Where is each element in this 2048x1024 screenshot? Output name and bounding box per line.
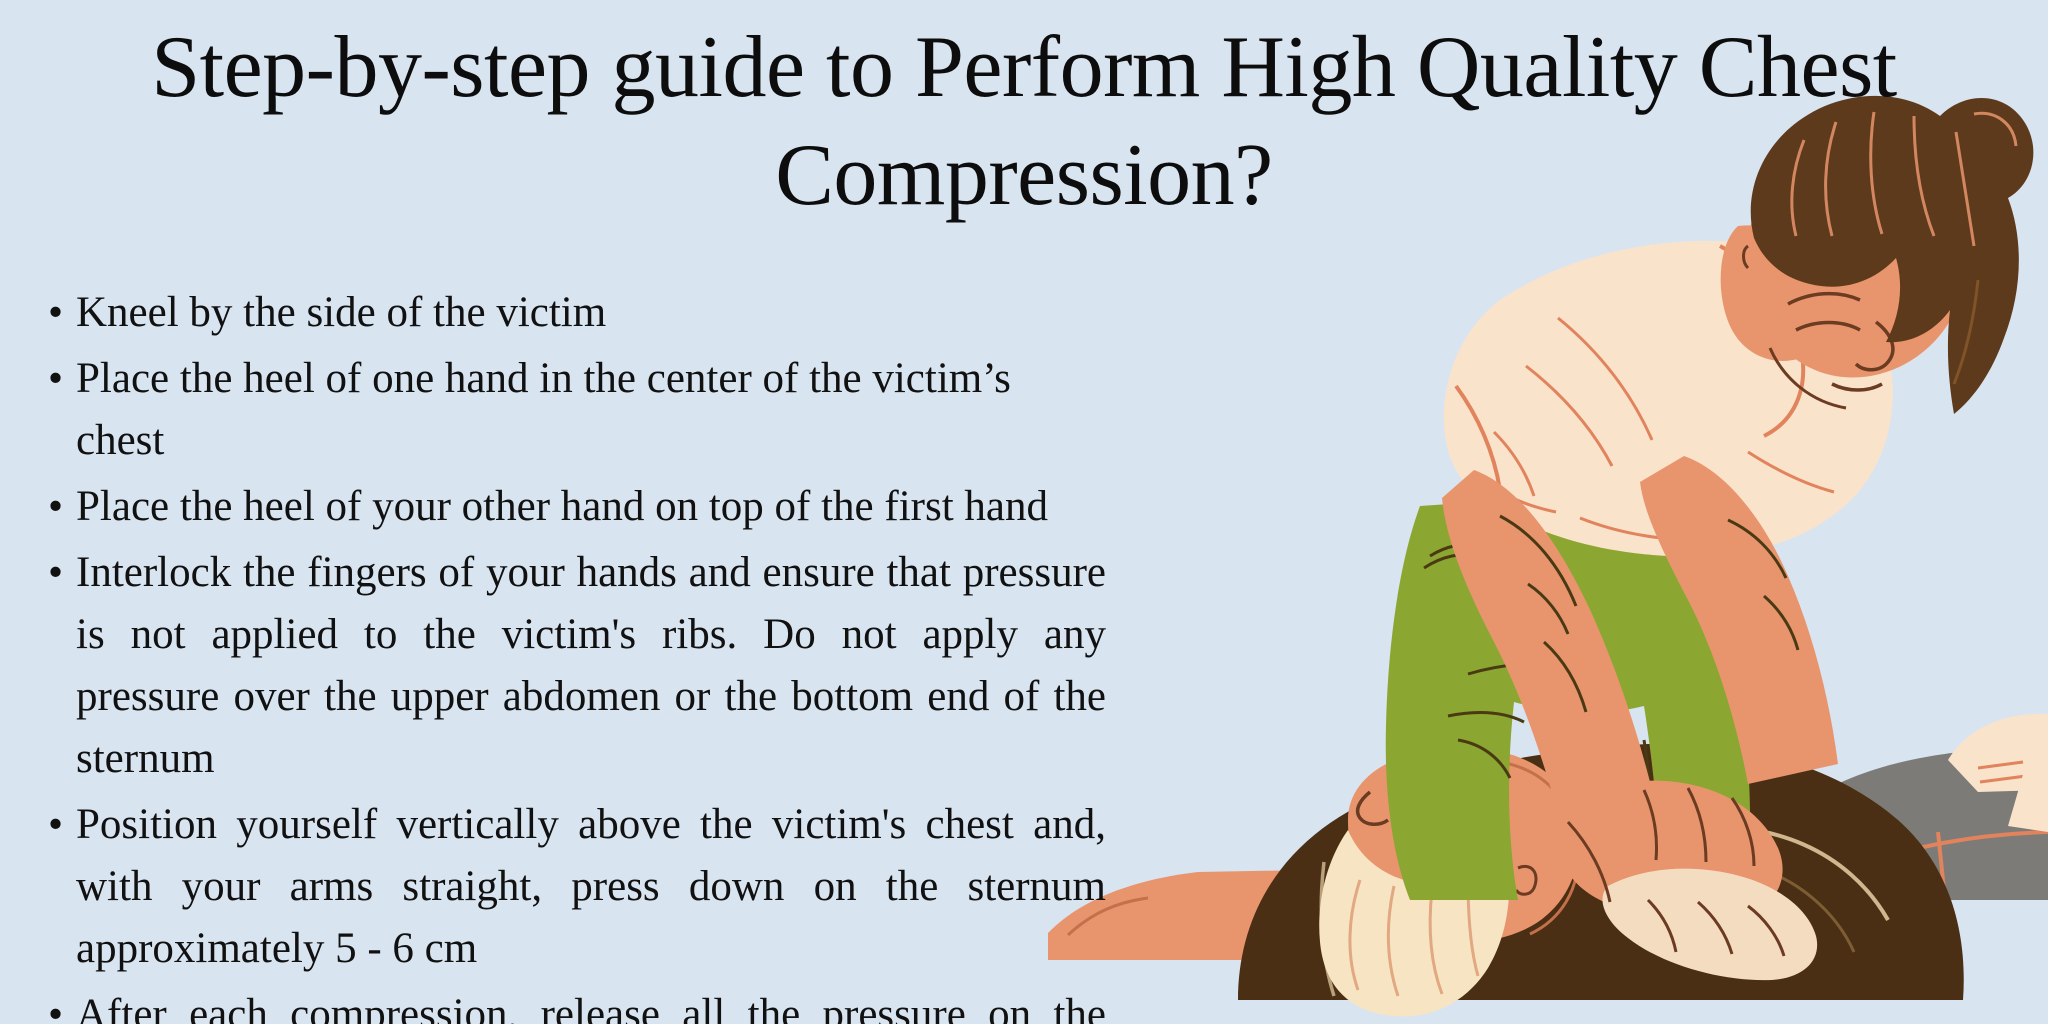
rescuer-far-arm	[1640, 456, 1838, 784]
rescuer-shirt	[1444, 241, 1893, 557]
victim-foot-lower	[2008, 738, 2048, 832]
rescuer-hand-lower	[1602, 869, 1817, 981]
list-item: • After each compression, release all th…	[34, 984, 1106, 1024]
rescuer-neckline	[1720, 246, 1803, 436]
poster-canvas: Step-by-step guide to Perform High Quali…	[0, 0, 2048, 1024]
rescuer-neck	[1721, 225, 1841, 361]
list-item: • Place the heel of one hand in the cent…	[34, 348, 1106, 472]
list-item: • Position yourself vertically above the…	[34, 794, 1106, 980]
bullet-icon: •	[48, 348, 63, 410]
list-item-text: After each compression, release all the …	[76, 991, 1106, 1024]
victim-head	[1319, 748, 1579, 1017]
victim-trousers	[1808, 748, 2048, 900]
rescuer-hands	[1559, 781, 1817, 981]
page-title-line-2: Compression?	[0, 122, 2048, 230]
list-item: • Kneel by the side of the victim	[34, 282, 1106, 344]
rescuer-pants	[1386, 492, 1750, 900]
rescuer-hand-upper	[1559, 781, 1783, 922]
list-item-text: Interlock the fingers of your hands and …	[76, 549, 1106, 782]
list-item-text: Position yourself vertically above the v…	[76, 801, 1106, 972]
bullet-icon: •	[48, 282, 63, 344]
page-title: Step-by-step guide to Perform High Quali…	[0, 14, 2048, 230]
list-item-text: Place the heel of your other hand on top…	[76, 483, 1048, 530]
list-item-text: Kneel by the side of the victim	[76, 289, 606, 336]
victim-hair	[1319, 830, 1509, 1017]
steps-list: • Kneel by the side of the victim • Plac…	[34, 282, 1106, 1024]
bullet-icon: •	[48, 542, 63, 604]
rescuer-near-arm	[1442, 470, 1658, 838]
bullet-icon: •	[48, 984, 63, 1024]
bullet-icon: •	[48, 794, 63, 856]
page-title-line-1: Step-by-step guide to Perform High Quali…	[0, 14, 2048, 122]
list-item-text: Place the heel of one hand in the center…	[76, 355, 1011, 464]
victim-figure	[1048, 714, 2048, 1017]
victim-jacket	[1238, 744, 1964, 1000]
bullet-icon: •	[48, 476, 63, 538]
victim-foot-upper	[1948, 714, 2048, 792]
list-item: • Place the heel of your other hand on t…	[34, 476, 1106, 538]
list-item: • Interlock the fingers of your hands an…	[34, 542, 1106, 790]
